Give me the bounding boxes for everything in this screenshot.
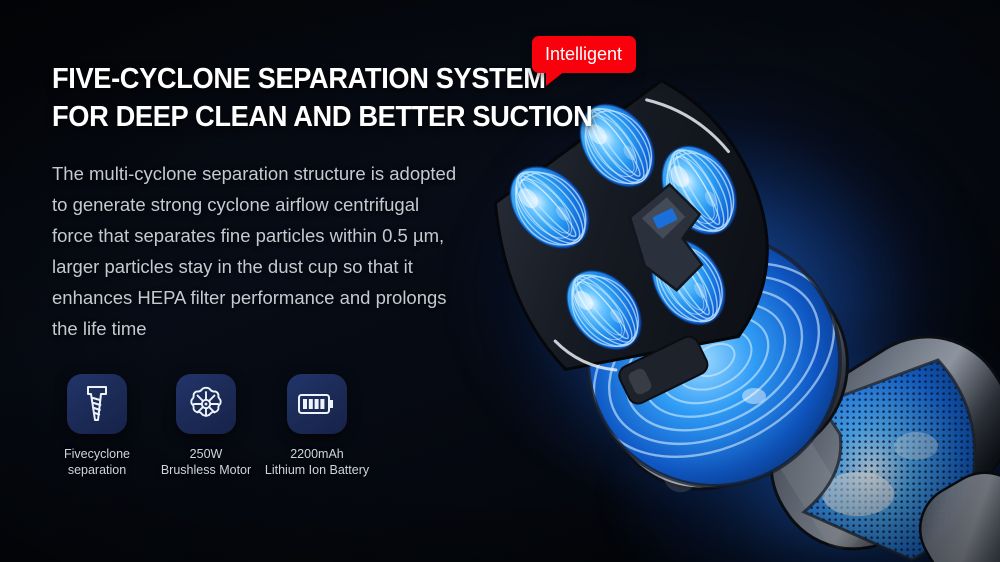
feature-item-fivecyclone: Fivecyclone separation [52,374,142,478]
battery-icon [287,374,347,434]
feature-caption: Fivecyclone separation [64,446,130,478]
feature-item-motor: 250W Brushless Motor [155,374,257,478]
feature-item-battery: 2200mAh Lithium Ion Battery [265,374,369,478]
feature-caption: 2200mAh Lithium Ion Battery [265,446,369,478]
cyclone-cone-icon [67,374,127,434]
paragraph-line-4: larger particles stay in the dust cup so… [52,251,522,282]
caption-line-1: 2200mAh [265,446,369,462]
caption-line-1: 250W [161,446,251,462]
feature-list: Fivecyclone separation 250W Brushless Mo… [52,374,369,478]
description-paragraph: The multi-cyclone separation structure i… [52,158,522,344]
caption-line-1: Fivecyclone [64,446,130,462]
brushless-motor-icon [176,374,236,434]
product-feature-banner: FIVE-CYCLONE SEPARATION SYSTEM FOR DEEP … [0,0,1000,562]
paragraph-line-5: enhances HEPA filter performance and pro… [52,282,522,313]
feature-caption: 250W Brushless Motor [161,446,251,478]
paragraph-line-2: to generate strong cyclone airflow centr… [52,189,522,220]
caption-line-2: separation [64,462,130,478]
caption-line-2: Brushless Motor [161,462,251,478]
intelligent-badge: Intelligent [532,36,636,73]
caption-line-2: Lithium Ion Battery [265,462,369,478]
paragraph-line-1: The multi-cyclone separation structure i… [52,158,522,189]
paragraph-line-3: force that separates fine particles with… [52,220,522,251]
headline-line-2: FOR DEEP CLEAN AND BETTER SUCTION [52,98,635,136]
paragraph-line-6: the life time [52,313,522,344]
